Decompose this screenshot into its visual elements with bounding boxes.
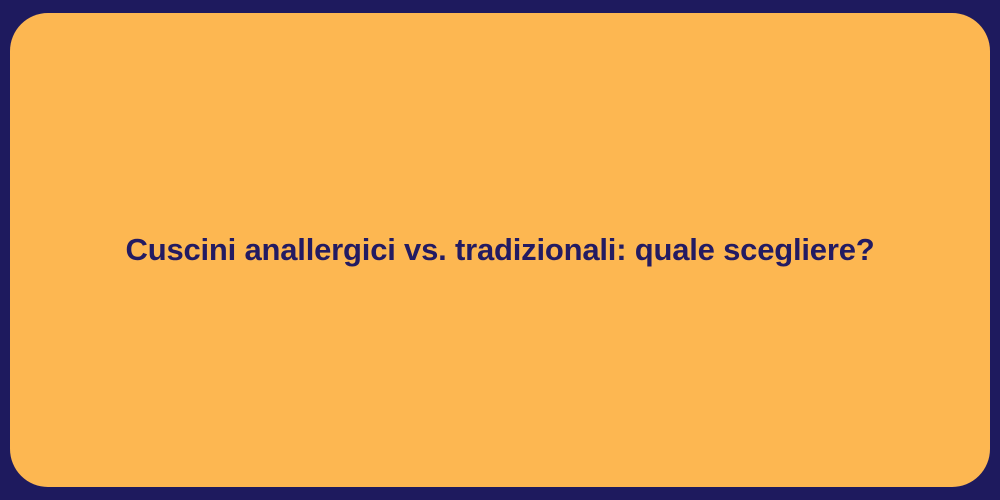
banner-card: Cuscini anallergici vs. tradizionali: qu…	[10, 13, 990, 487]
page-title: Cuscini anallergici vs. tradizionali: qu…	[86, 230, 915, 270]
banner-frame: Cuscini anallergici vs. tradizionali: qu…	[0, 0, 1000, 500]
